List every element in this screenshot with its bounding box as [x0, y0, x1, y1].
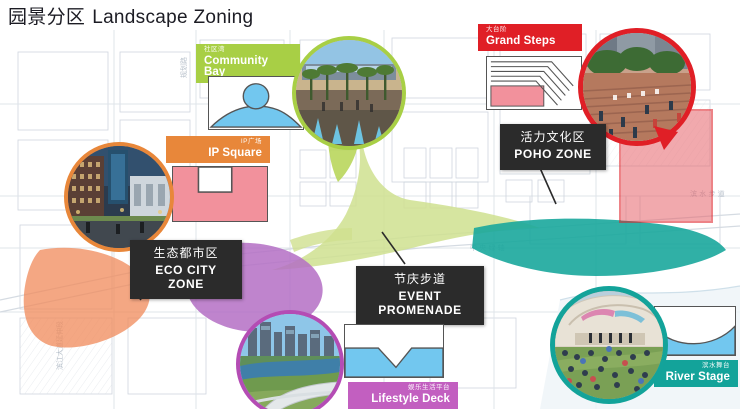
- landscape-zoning-board: 规划路 滨江大道延伸段 中 央 绿 轴 滨 水 步 道: [0, 0, 740, 409]
- tag-lifestyle-deck-cn: 娱乐生活平台: [356, 385, 450, 392]
- grand-steps-swatch: [486, 56, 582, 110]
- callout-poho-zone: 活力文化区 POHO ZONE: [500, 124, 606, 170]
- callout-eco-city-zone: 生态都市区 ECO CITY ZONE: [130, 240, 242, 299]
- lifestyle-deck-photo: [236, 310, 344, 409]
- callout-event-promenade-cn: 节庆步道: [366, 273, 474, 287]
- tag-lifestyle-deck: 娱乐生活平台 Lifestyle Deck: [348, 382, 458, 409]
- callout-event-promenade: 节庆步道 EVENT PROMENADE: [356, 266, 484, 325]
- tag-grand-steps-cn: 大台阶: [486, 27, 574, 34]
- tag-river-stage-en: River Stage: [662, 372, 730, 384]
- community-bay-swatch: [208, 76, 304, 130]
- zone-river-stage: [472, 219, 726, 276]
- callout-event-promenade-en: EVENT PROMENADE: [366, 290, 474, 318]
- river-stage-photo: [550, 286, 668, 404]
- tag-ip-square-en: IP Square: [174, 148, 262, 160]
- page-title-en: Landscape Zoning: [92, 7, 253, 28]
- ip-square-photo: [64, 142, 174, 252]
- community-bay-photo: [292, 36, 406, 150]
- callout-poho-en: POHO ZONE: [510, 148, 596, 162]
- callout-eco-city-en: ECO CITY ZONE: [140, 264, 232, 292]
- lifestyle-deck-swatch: [344, 324, 444, 378]
- tag-river-stage: 滨水舞台 River Stage: [654, 360, 738, 387]
- tag-grand-steps-en: Grand Steps: [486, 36, 574, 48]
- tag-lifestyle-deck-en: Lifestyle Deck: [356, 394, 450, 406]
- tag-community-bay-cn: 社区湾: [204, 47, 292, 54]
- ip-square-swatch: [172, 166, 268, 222]
- page-title: 园景分区Landscape Zoning: [8, 2, 253, 29]
- callout-eco-city-cn: 生态都市区: [140, 247, 232, 261]
- callout-poho-cn: 活力文化区: [510, 131, 596, 145]
- tag-ip-square-cn: IP广场: [174, 139, 262, 146]
- tag-grand-steps: 大台阶 Grand Steps: [478, 24, 582, 51]
- tag-river-stage-cn: 滨水舞台: [662, 363, 730, 370]
- tag-ip-square: IP广场 IP Square: [166, 136, 270, 163]
- page-title-cn: 园景分区: [8, 7, 85, 28]
